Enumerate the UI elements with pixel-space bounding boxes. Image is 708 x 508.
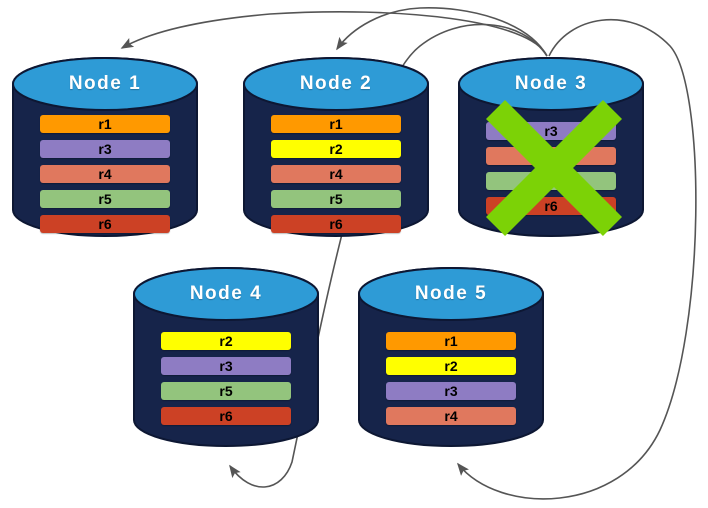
- cylinder-top: [13, 58, 197, 110]
- database-node-2[interactable]: Node 2r1r2r4r5r6: [243, 58, 429, 236]
- record-bar[interactable]: r3: [161, 357, 291, 375]
- record-label: r3: [219, 359, 232, 373]
- record-bar[interactable]: r6: [40, 215, 170, 233]
- record-label: r5: [219, 384, 232, 398]
- record-label: r4: [444, 409, 457, 423]
- cylinder-top: [359, 268, 543, 320]
- database-node-5[interactable]: Node 5r1r2r3r4: [358, 268, 544, 446]
- cylinder-top: [459, 58, 643, 110]
- record-list: r3r4r5r6: [458, 122, 644, 215]
- record-label: r6: [544, 199, 557, 213]
- diagram-canvas: Node 1r1r3r4r5r6Node 2r1r2r4r5r6Node 3r3…: [0, 0, 708, 508]
- record-bar[interactable]: r5: [271, 190, 401, 208]
- record-bar[interactable]: r1: [271, 115, 401, 133]
- record-bar[interactable]: r6: [161, 407, 291, 425]
- record-bar[interactable]: r6: [486, 197, 616, 215]
- record-bar[interactable]: r2: [386, 357, 516, 375]
- record-label: r5: [544, 174, 557, 188]
- database-node-3[interactable]: Node 3r3r4r5r6: [458, 58, 644, 236]
- record-bar[interactable]: r6: [271, 215, 401, 233]
- record-list: r1r2r4r5r6: [243, 115, 429, 233]
- record-label: r4: [544, 149, 557, 163]
- record-label: r6: [219, 409, 232, 423]
- record-bar[interactable]: r1: [40, 115, 170, 133]
- record-bar[interactable]: r5: [486, 172, 616, 190]
- record-label: r4: [98, 167, 111, 181]
- record-bar[interactable]: r3: [486, 122, 616, 140]
- cylinder-top: [244, 58, 428, 110]
- record-label: r6: [98, 217, 111, 231]
- record-bar[interactable]: r4: [486, 147, 616, 165]
- record-bar[interactable]: r3: [386, 382, 516, 400]
- record-label: r1: [98, 117, 111, 131]
- record-list: r1r2r3r4: [358, 332, 544, 425]
- record-label: r1: [329, 117, 342, 131]
- record-list: r2r3r5r6: [133, 332, 319, 425]
- record-label: r2: [219, 334, 232, 348]
- record-bar[interactable]: r1: [386, 332, 516, 350]
- record-label: r3: [444, 384, 457, 398]
- record-bar[interactable]: r5: [40, 190, 170, 208]
- record-bar[interactable]: r4: [271, 165, 401, 183]
- record-bar[interactable]: r5: [161, 382, 291, 400]
- replication-arrow: [337, 8, 547, 56]
- cylinder-top: [134, 268, 318, 320]
- record-label: r5: [329, 192, 342, 206]
- database-node-4[interactable]: Node 4r2r3r5r6: [133, 268, 319, 446]
- record-bar[interactable]: r2: [161, 332, 291, 350]
- database-node-1[interactable]: Node 1r1r3r4r5r6: [12, 58, 198, 236]
- record-label: r6: [329, 217, 342, 231]
- record-label: r5: [98, 192, 111, 206]
- record-bar[interactable]: r2: [271, 140, 401, 158]
- record-label: r3: [98, 142, 111, 156]
- record-label: r4: [329, 167, 342, 181]
- record-label: r2: [329, 142, 342, 156]
- record-label: r1: [444, 334, 457, 348]
- replication-arrow: [122, 12, 547, 56]
- record-label: r3: [544, 124, 557, 138]
- record-bar[interactable]: r4: [386, 407, 516, 425]
- record-label: r2: [444, 359, 457, 373]
- record-bar[interactable]: r3: [40, 140, 170, 158]
- record-list: r1r3r4r5r6: [12, 115, 198, 233]
- record-bar[interactable]: r4: [40, 165, 170, 183]
